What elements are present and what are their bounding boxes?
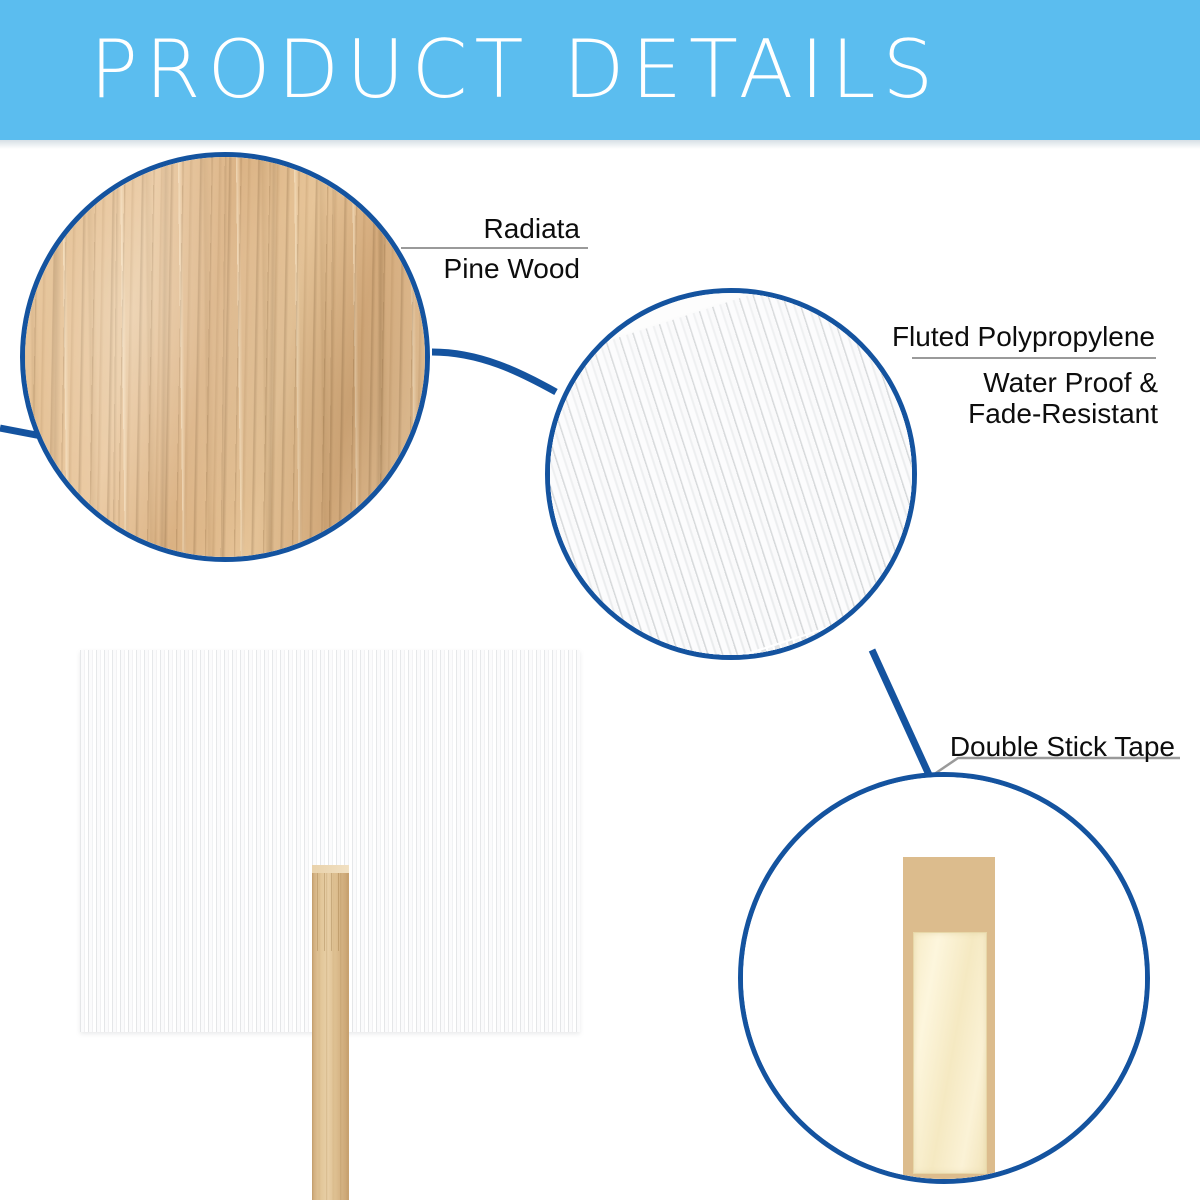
wood-stake-with-tape-image	[743, 777, 1145, 1179]
connector-wood-to-plastic	[432, 352, 556, 392]
callout-title-radiata: Radiata	[240, 212, 580, 245]
leader-line-fluted-polypropylene	[912, 357, 1156, 359]
callout-subtitle-water-proof: Water Proof &	[700, 366, 1158, 399]
yard-sign-stake-notch	[317, 873, 343, 951]
callout-title-fluted-polypropylene: Fluted Polypropylene	[700, 320, 1155, 353]
double-stick-tape-strip	[913, 932, 987, 1174]
product-details-infographic: PRODUCT DETAILS Radiata Pine Wood Fluted…	[0, 0, 1200, 1200]
callout-title-double-stick-tape: Double Stick Tape	[700, 730, 1175, 763]
yard-sign-stake-top	[312, 865, 349, 873]
callout-subtitle-pine-wood: Pine Wood	[240, 252, 580, 285]
callout-circle-double-stick-tape	[738, 772, 1150, 1184]
leader-line-radiata	[401, 247, 588, 249]
callout-subtitle-fade-resistant: Fade-Resistant	[700, 397, 1158, 430]
